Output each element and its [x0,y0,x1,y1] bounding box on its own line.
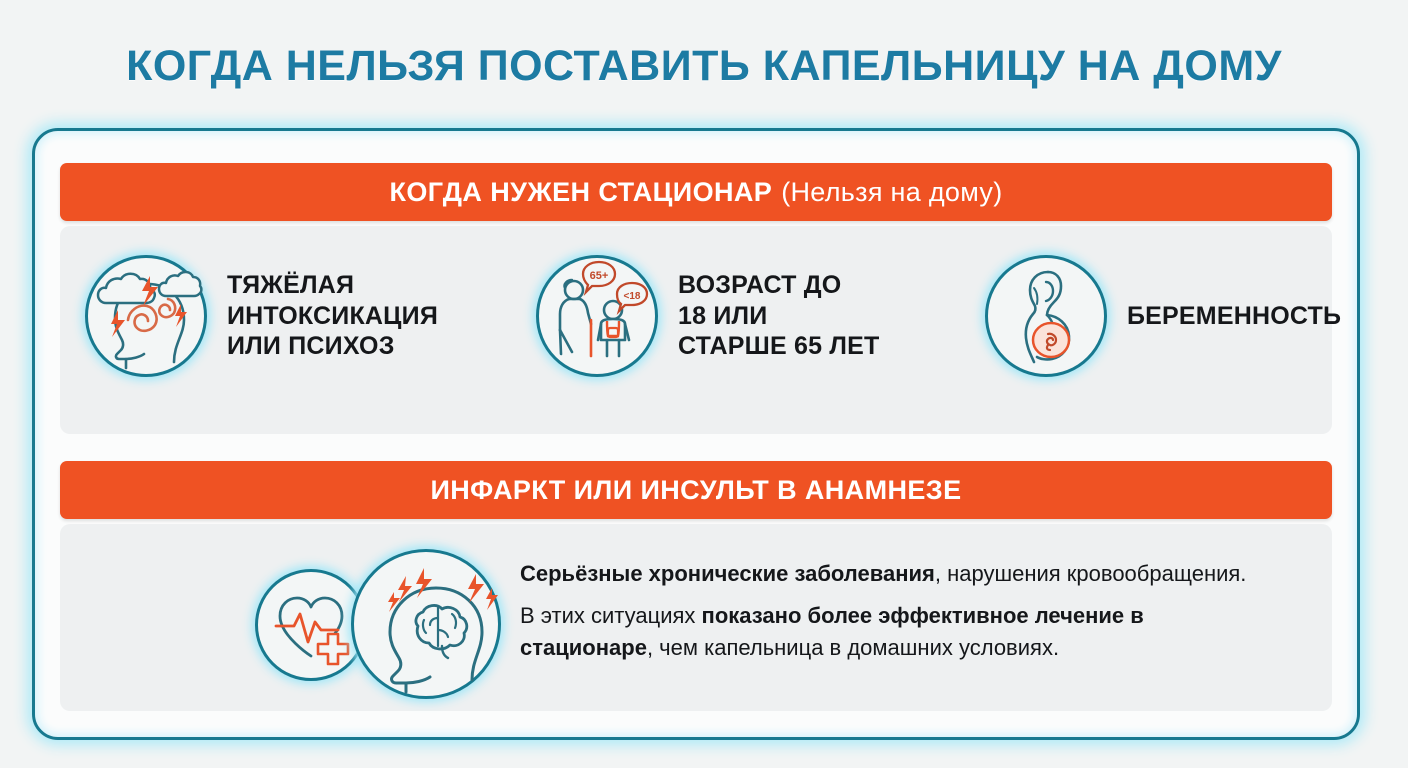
body-p2-rest: , чем капельница в домашних условиях. [647,635,1059,660]
item-intoxication: ТЯЖЁЛАЯ ИНТОКСИКАЦИЯ ИЛИ ПСИХОЗ [85,255,438,377]
section2-body-text: Серьёзные хронические заболевания, наруш… [520,558,1260,664]
body-paragraph-1: Серьёзные хронические заболевания, наруш… [520,558,1260,590]
section2-icon-group [247,547,492,702]
item-age: 65+ <18 ВОЗРАСТ ДО 18 ИЛИ СТАРШЕ 65 ЛЕТ [536,255,879,377]
body-p1-rest: , нарушения кровообращения. [935,561,1247,586]
body-p1-bold: Серьёзные хронические заболевания [520,561,935,586]
item-pregnancy-label: БЕРЕМЕННОСТЬ [1127,301,1341,332]
item-pregnancy: БЕРЕМЕННОСТЬ [985,255,1341,377]
svg-text:<18: <18 [624,291,641,302]
body-paragraph-2: В этих ситуациях показано более эффектив… [520,600,1260,664]
item-age-label: ВОЗРАСТ ДО 18 ИЛИ СТАРШЕ 65 ЛЕТ [678,270,879,362]
page-title: КОГДА НЕЛЬЗЯ ПОСТАВИТЬ КАПЕЛЬНИЦУ НА ДОМ… [0,42,1408,91]
svg-text:65+: 65+ [590,270,609,282]
elderly-and-child-icon: 65+ <18 [536,255,658,377]
head-storm-clouds-icon [85,255,207,377]
section1-header-light: (Нельзя на дому) [781,177,1002,208]
infographic-page: КОГДА НЕЛЬЗЯ ПОСТАВИТЬ КАПЕЛЬНИЦУ НА ДОМ… [0,0,1408,768]
section2-header-strong: ИНФАРКТ ИЛИ ИНСУЛЬТ В АНАМНЕЗЕ [430,475,961,506]
item-intoxication-label: ТЯЖЁЛАЯ ИНТОКСИКАЦИЯ ИЛИ ПСИХОЗ [227,270,438,362]
section2-header-bar: ИНФАРКТ ИЛИ ИНСУЛЬТ В АНАМНЕЗЕ [60,461,1332,519]
head-brain-lightning-icon [351,549,501,699]
pregnant-woman-icon [985,255,1107,377]
section1-header-strong: КОГДА НУЖЕН СТАЦИОНАР [389,177,772,208]
body-p2-lead: В этих ситуациях [520,603,702,628]
section1-header-bar: КОГДА НУЖЕН СТАЦИОНАР (Нельзя на дому) [60,163,1332,221]
